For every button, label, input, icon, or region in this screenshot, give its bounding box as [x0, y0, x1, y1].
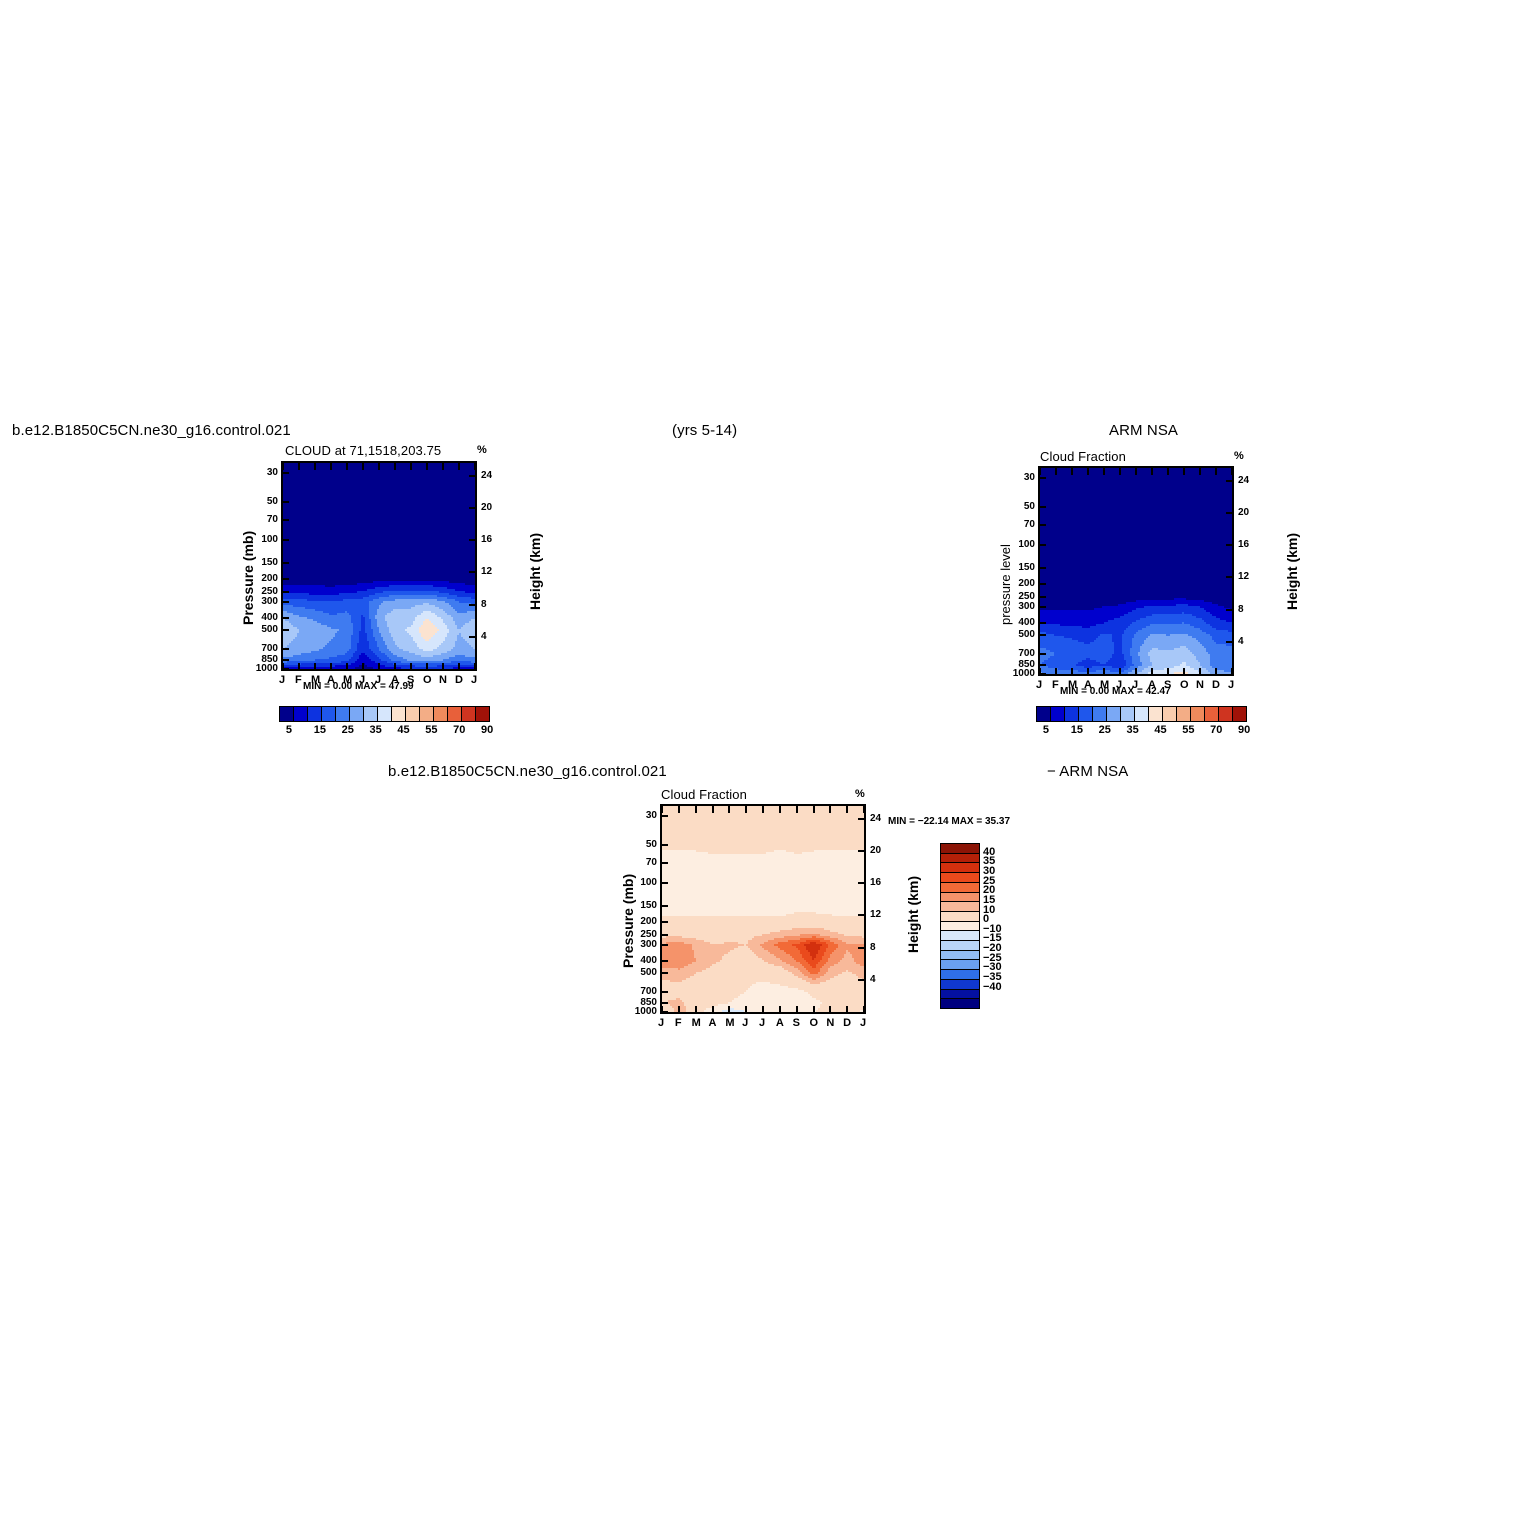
ax-m-1-tick: [394, 663, 396, 669]
panel-obs-ylabel-left: pressure level: [998, 544, 1013, 625]
panel-diff-units: %: [855, 788, 865, 800]
ax-p-2-tick-label: 50: [1024, 501, 1035, 512]
ax-m-2-tick: [1039, 468, 1041, 475]
ax-h-2-tick-label: 12: [1238, 571, 1249, 582]
ax-p-3-tick-label: 300: [640, 939, 657, 950]
panel-model-units: %: [477, 444, 487, 456]
ax-m-2-tick: [1151, 468, 1153, 475]
ax-p-3-tick-label: 30: [646, 810, 657, 821]
ax-h-3-tick-label: 4: [870, 974, 876, 985]
ax-m-1-tick: [394, 463, 396, 470]
colorbar-label: 15: [314, 724, 326, 736]
ax-m-2-tick: [1055, 468, 1057, 475]
header-years: (yrs 5-14): [672, 422, 737, 439]
ax-m-3-tick: [796, 1006, 798, 1012]
ax-p-2-tick-label: 500: [1018, 629, 1035, 640]
ax-p-2-tick-label: 70: [1024, 519, 1035, 530]
ax-p-3-tick-label: 70: [646, 857, 657, 868]
colorbar-label: −40: [983, 981, 1002, 993]
panel-model-month-axis: JFMAMJJASONDJ: [281, 461, 477, 671]
ax-m-1-tick: [474, 463, 476, 470]
colorbar-label: 55: [1182, 724, 1194, 736]
ax-h-2-tick-label: 8: [1238, 604, 1244, 615]
colorbar-label: 55: [425, 724, 437, 736]
ax-m-1-tick: [314, 463, 316, 470]
ax-p-1-tick-label: 1000: [256, 663, 278, 674]
ax-m-1-tick: [458, 463, 460, 470]
ax-p-3-tick-label: 400: [640, 955, 657, 966]
ax-m-2-tick-label: F: [1052, 679, 1059, 691]
ax-m-3-tick: [846, 1006, 848, 1012]
ax-m-3-tick: [863, 806, 865, 813]
ax-m-1-tick-label: F: [295, 674, 302, 686]
ax-m-1-tick: [298, 463, 300, 470]
ax-m-2-tick: [1135, 668, 1137, 674]
ax-m-2-tick: [1215, 468, 1217, 475]
ax-p-3-tick-label: 700: [640, 986, 657, 997]
panel-model-ylabel-left: Pressure (mb): [240, 531, 256, 625]
ax-m-1-tick-label: J: [279, 674, 285, 686]
ax-m-1-tick: [314, 663, 316, 669]
ax-h-1-tick-label: 24: [481, 470, 492, 481]
header-obs-title: ARM NSA: [1109, 422, 1178, 439]
ax-m-2-tick: [1103, 468, 1105, 475]
ax-m-2-tick: [1231, 668, 1233, 674]
panel-obs-units: %: [1234, 450, 1244, 462]
ax-p-1-tick-label: 700: [261, 643, 278, 654]
ax-m-2-tick: [1103, 668, 1105, 674]
ax-h-1-tick-label: 4: [481, 631, 487, 642]
header-model-title: b.e12.B1850C5CN.ne30_g16.control.021: [12, 422, 291, 439]
ax-h-2-tick-label: 20: [1238, 507, 1249, 518]
ax-p-1-tick-label: 100: [261, 534, 278, 545]
ax-h-3-tick-label: 16: [870, 877, 881, 888]
colorbar-cloud-model-labels: 515253545557090: [279, 706, 488, 720]
ax-p-2-tick-label: 100: [1018, 539, 1035, 550]
ax-h-3-tick-label: 24: [870, 813, 881, 824]
ax-p-1-tick-label: 400: [261, 612, 278, 623]
ax-m-2-tick: [1087, 468, 1089, 475]
ax-m-3-tick: [745, 806, 747, 813]
diff-header-left: b.e12.B1850C5CN.ne30_g16.control.021: [388, 763, 667, 780]
ax-m-2-tick: [1087, 668, 1089, 674]
ax-m-3-tick: [661, 806, 663, 813]
ax-m-2-tick: [1167, 668, 1169, 674]
ax-m-3-tick: [661, 1006, 663, 1012]
ax-m-3-tick: [779, 806, 781, 813]
ax-m-1-tick: [378, 663, 380, 669]
colorbar-label: 35: [370, 724, 382, 736]
ax-m-2-tick: [1151, 668, 1153, 674]
ax-p-2-tick-label: 1000: [1013, 668, 1035, 679]
ax-m-3-tick: [728, 806, 730, 813]
ax-m-3-tick-label: S: [793, 1017, 800, 1029]
ax-p-1-tick-label: 70: [267, 514, 278, 525]
ax-m-2-tick: [1183, 468, 1185, 475]
ax-p-2-tick-label: 200: [1018, 578, 1035, 589]
ax-m-2-tick: [1199, 468, 1201, 475]
ax-h-1-tick-label: 16: [481, 534, 492, 545]
ax-m-2-tick: [1055, 668, 1057, 674]
ax-m-1-tick-label: J: [471, 674, 477, 686]
ax-p-3-tick-label: 100: [640, 877, 657, 888]
ax-m-3-tick: [762, 1006, 764, 1012]
ax-m-3-tick-label: J: [742, 1017, 748, 1029]
ax-m-1-tick-label: N: [439, 674, 447, 686]
ax-m-3-tick: [695, 1006, 697, 1012]
ax-p-3-tick-label: 200: [640, 916, 657, 927]
ax-p-3-tick-label: 50: [646, 839, 657, 850]
ax-m-2-tick-label: J: [1228, 679, 1234, 691]
ax-p-1-tick-label: 500: [261, 624, 278, 635]
ax-m-1-tick: [442, 463, 444, 470]
ax-m-3-tick: [695, 806, 697, 813]
ax-m-3-tick-label: F: [675, 1017, 682, 1029]
panel-model-minmax: MIN = 0.00 MAX = 47.99: [303, 681, 414, 692]
ax-m-2-tick: [1119, 468, 1121, 475]
ax-p-2-tick-label: 300: [1018, 601, 1035, 612]
ax-m-3-tick: [745, 1006, 747, 1012]
panel-diff-ylabel-right: Height (km): [905, 876, 921, 953]
ax-m-2-tick-label: J: [1036, 679, 1042, 691]
ax-m-2-tick: [1071, 668, 1073, 674]
ax-m-3-tick-label: M: [725, 1017, 734, 1029]
ax-m-3-tick: [762, 806, 764, 813]
ax-m-1-tick: [362, 663, 364, 669]
ax-m-1-tick: [410, 463, 412, 470]
ax-m-3-tick: [712, 1006, 714, 1012]
ax-m-3-tick: [829, 1006, 831, 1012]
ax-m-1-tick-label: O: [423, 674, 432, 686]
colorbar-label: 45: [1154, 724, 1166, 736]
panel-diff-minmax: MIN = −22.14 MAX = 35.37: [888, 816, 1010, 827]
colorbar-cloud-obs-labels: 515253545557090: [1036, 706, 1245, 720]
ax-m-3-tick: [728, 1006, 730, 1012]
ax-m-2-tick: [1135, 468, 1137, 475]
ax-p-3-tick-label: 150: [640, 900, 657, 911]
ax-m-1-tick: [282, 663, 284, 669]
panel-obs-subtitle: Cloud Fraction: [1040, 449, 1126, 464]
ax-m-2-tick: [1215, 668, 1217, 674]
ax-m-1-tick: [458, 663, 460, 669]
ax-p-2-tick-label: 400: [1018, 617, 1035, 628]
panel-model-subtitle: CLOUD at 71,1518,203.75: [285, 443, 441, 458]
ax-m-2-tick-label: D: [1212, 679, 1220, 691]
ax-m-3-tick: [813, 1006, 815, 1012]
diff-header-right: − ARM NSA: [1047, 763, 1128, 780]
ax-m-1-tick: [426, 463, 428, 470]
ax-m-1-tick: [410, 663, 412, 669]
colorbar-label: 70: [453, 724, 465, 736]
ax-m-3-tick: [829, 806, 831, 813]
ax-h-1-tick-label: 12: [481, 566, 492, 577]
ax-m-2-tick: [1231, 468, 1233, 475]
ax-m-3-tick: [846, 806, 848, 813]
ax-p-1-tick-label: 150: [261, 557, 278, 568]
colorbar-label: 90: [1238, 724, 1250, 736]
ax-m-1-tick: [378, 463, 380, 470]
ax-h-1-tick-label: 8: [481, 599, 487, 610]
ax-m-3-tick: [863, 1006, 865, 1012]
ax-p-2-tick-label: 700: [1018, 648, 1035, 659]
ax-m-3-tick-label: J: [759, 1017, 765, 1029]
ax-p-1-tick-label: 50: [267, 496, 278, 507]
ax-p-3-tick-label: 1000: [635, 1006, 657, 1017]
ax-m-3-tick: [796, 806, 798, 813]
panel-diff-ylabel-left: Pressure (mb): [620, 874, 636, 968]
ax-m-2-tick: [1071, 468, 1073, 475]
ax-m-1-tick: [346, 663, 348, 669]
ax-p-3-tick-label: 500: [640, 967, 657, 978]
ax-m-3-tick: [678, 1006, 680, 1012]
ax-m-3-tick-label: N: [826, 1017, 834, 1029]
ax-m-2-tick-label: N: [1196, 679, 1204, 691]
ax-m-3-tick: [678, 806, 680, 813]
panel-diff-subtitle: Cloud Fraction: [661, 787, 747, 802]
ax-h-2-tick-label: 24: [1238, 475, 1249, 486]
ax-m-2-tick: [1119, 668, 1121, 674]
colorbar-diff-labels: 403530252015100−10−15−20−25−30−35−40: [940, 843, 978, 1007]
ax-p-1-tick-label: 30: [267, 467, 278, 478]
ax-m-1-tick: [442, 663, 444, 669]
ax-m-3-tick-label: J: [658, 1017, 664, 1029]
ax-m-2-tick-label: O: [1180, 679, 1189, 691]
ax-m-1-tick: [282, 463, 284, 470]
ax-m-1-tick: [346, 463, 348, 470]
ax-h-3-tick-label: 8: [870, 942, 876, 953]
ax-m-3-tick-label: O: [810, 1017, 819, 1029]
ax-m-3-tick-label: M: [692, 1017, 701, 1029]
panel-obs-ylabel-right: Height (km): [1284, 533, 1300, 610]
ax-m-3-tick-label: D: [843, 1017, 851, 1029]
panel-obs-minmax: MIN = 0.00 MAX = 42.47: [1060, 686, 1171, 697]
ax-m-2-tick: [1183, 668, 1185, 674]
ax-p-2-tick-label: 30: [1024, 472, 1035, 483]
ax-m-2-tick: [1199, 668, 1201, 674]
ax-m-1-tick: [362, 463, 364, 470]
colorbar-label: 45: [397, 724, 409, 736]
colorbar-label: 25: [342, 724, 354, 736]
ax-m-3-tick: [712, 806, 714, 813]
ax-m-1-tick-label: D: [455, 674, 463, 686]
ax-m-1-tick: [474, 663, 476, 669]
ax-m-3-tick-label: J: [860, 1017, 866, 1029]
ax-p-1-tick-label: 200: [261, 573, 278, 584]
panel-model-ylabel-right: Height (km): [527, 533, 543, 610]
ax-m-1-tick: [426, 663, 428, 669]
ax-m-2-tick: [1167, 468, 1169, 475]
colorbar-label: 5: [286, 724, 292, 736]
ax-m-1-tick: [298, 663, 300, 669]
panel-obs-month-axis: JFMAMJJASONDJ: [1038, 466, 1234, 676]
ax-m-1-tick: [330, 463, 332, 470]
colorbar-label: 15: [1071, 724, 1083, 736]
ax-h-1-tick-label: 20: [481, 502, 492, 513]
colorbar-label: 90: [481, 724, 493, 736]
ax-m-3-tick-label: A: [709, 1017, 717, 1029]
ax-h-2-tick-label: 16: [1238, 539, 1249, 550]
ax-p-1-tick-label: 300: [261, 596, 278, 607]
colorbar-label: 5: [1043, 724, 1049, 736]
ax-m-2-tick: [1039, 668, 1041, 674]
ax-p-2-tick-label: 150: [1018, 562, 1035, 573]
colorbar-label: 25: [1099, 724, 1111, 736]
ax-h-2-tick-label: 4: [1238, 636, 1244, 647]
ax-m-3-tick-label: A: [776, 1017, 784, 1029]
colorbar-label: 35: [1127, 724, 1139, 736]
ax-h-3-tick-label: 20: [870, 845, 881, 856]
panel-diff-month-axis: JFMAMJJASONDJ: [660, 804, 866, 1014]
ax-m-3-tick: [779, 1006, 781, 1012]
ax-h-3-tick-label: 12: [870, 909, 881, 920]
ax-m-1-tick: [330, 663, 332, 669]
ax-m-3-tick: [813, 806, 815, 813]
colorbar-label: 70: [1210, 724, 1222, 736]
